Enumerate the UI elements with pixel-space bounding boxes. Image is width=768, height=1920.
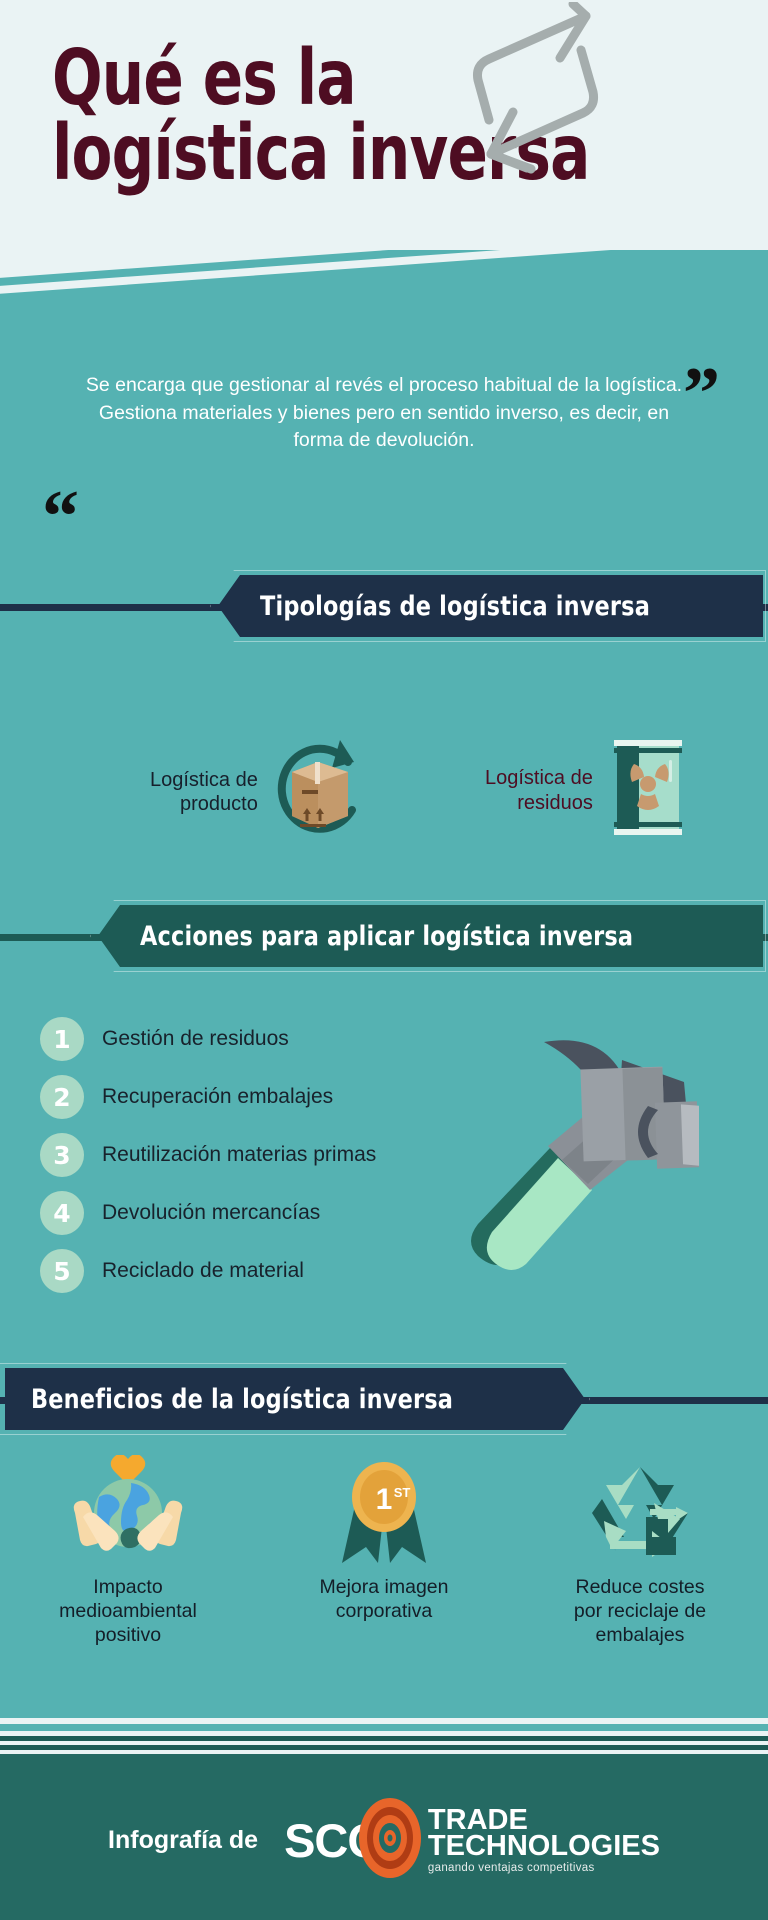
waste-barrel-icon — [609, 736, 687, 845]
company-logo[interactable]: SCO TRADE TECHNOLOGIES ganando ventajas … — [284, 1796, 660, 1885]
list-item-label: Recuperación embalajes — [102, 1085, 333, 1109]
list-number-badge: 1 — [40, 1017, 84, 1061]
list-number-badge: 5 — [40, 1249, 84, 1293]
benefit-costes: Reduce costes por reciclaje de embalajes — [535, 1455, 745, 1648]
tipologias-items: Logística de producto — [0, 700, 768, 870]
benefit-label: Impacto medioambiental positivo — [59, 1575, 197, 1648]
footer-section: Infografía de SCO TRADE TECHNOLOGIES gan… — [0, 1760, 768, 1920]
list-item-label: Reutilización materias primas — [102, 1143, 376, 1167]
beneficios-items: Impacto medioambiental positivo 1 ST Mej… — [0, 1455, 768, 1648]
list-item: 5 Reciclado de material — [40, 1242, 510, 1300]
logo-tagline: ganando ventajas competitivas — [428, 1863, 660, 1874]
box-cycle-icon — [262, 732, 374, 852]
list-number-badge: 3 — [40, 1133, 84, 1177]
cycle-arrows-icon — [455, 2, 675, 192]
list-number-badge: 4 — [40, 1191, 84, 1235]
recycling-icon — [584, 1455, 696, 1567]
footer-credit: Infografía de — [108, 1826, 258, 1855]
benefit-label: Mejora imagen corporativa — [320, 1575, 449, 1623]
tipologia-producto-label: Logística de producto — [150, 768, 258, 817]
list-item-label: Reciclado de material — [102, 1259, 304, 1283]
acciones-banner-row: Acciones para aplicar logística inversa — [0, 905, 768, 967]
infographic-page: Qué es la logística inversa ” “ Se encar… — [0, 0, 768, 1920]
list-item: 1 Gestión de residuos — [40, 1010, 510, 1068]
logo-line-technologies: TECHNOLOGIES — [428, 1833, 660, 1860]
first-place-medal-icon: 1 ST — [332, 1455, 436, 1567]
beneficios-banner-row: Beneficios de la logística inversa — [0, 1368, 768, 1430]
list-item: 4 Devolución mercancías — [40, 1184, 510, 1242]
list-item-label: Gestión de residuos — [102, 1027, 289, 1051]
beneficios-banner: Beneficios de la logística inversa — [5, 1368, 585, 1430]
list-number-badge: 2 — [40, 1075, 84, 1119]
footer-divider — [0, 1718, 768, 1760]
acciones-banner-label: Acciones para aplicar logística inversa — [140, 921, 633, 952]
benefit-label: Reduce costes por reciclaje de embalajes — [574, 1575, 706, 1648]
tipologias-banner: Tipologías de logística inversa — [218, 575, 763, 637]
beneficios-banner-label: Beneficios de la logística inversa — [31, 1384, 453, 1415]
tipologia-residuos: Logística de residuos — [485, 736, 687, 845]
list-item: 2 Recuperación embalajes — [40, 1068, 510, 1126]
list-item-label: Devolución mercancías — [102, 1201, 320, 1225]
logo-target-icon — [352, 1796, 428, 1885]
tipologia-producto: Logística de producto — [150, 732, 374, 852]
quote-block: ” “ Se encarga que gestionar al revés el… — [0, 372, 768, 455]
quote-mark-open-icon: “ — [42, 480, 79, 554]
tipologia-residuos-label: Logística de residuos — [485, 766, 593, 815]
logo-line-trade: TRADE — [428, 1807, 660, 1834]
list-item: 3 Reutilización materias primas — [40, 1126, 510, 1184]
benefit-imagen: 1 ST Mejora imagen corporativa — [279, 1455, 489, 1623]
tipologias-banner-row: Tipologías de logística inversa — [0, 575, 768, 637]
header-diagonal-divider — [0, 250, 768, 300]
medal-badge-number: 1 — [376, 1483, 393, 1516]
quote-mark-close-icon: ” — [683, 357, 720, 431]
quote-text: Se encarga que gestionar al revés el pro… — [84, 372, 684, 455]
medal-badge-suffix: ST — [394, 1485, 411, 1500]
acciones-banner: Acciones para aplicar logística inversa — [98, 905, 763, 967]
header-section: Qué es la logística inversa — [0, 0, 768, 300]
hands-globe-heart-icon — [69, 1455, 187, 1567]
hammer-icon — [452, 1020, 732, 1290]
tipologias-banner-label: Tipologías de logística inversa — [260, 591, 650, 622]
acciones-list: 1 Gestión de residuos 2 Recuperación emb… — [40, 1010, 510, 1300]
benefit-impacto: Impacto medioambiental positivo — [23, 1455, 233, 1648]
